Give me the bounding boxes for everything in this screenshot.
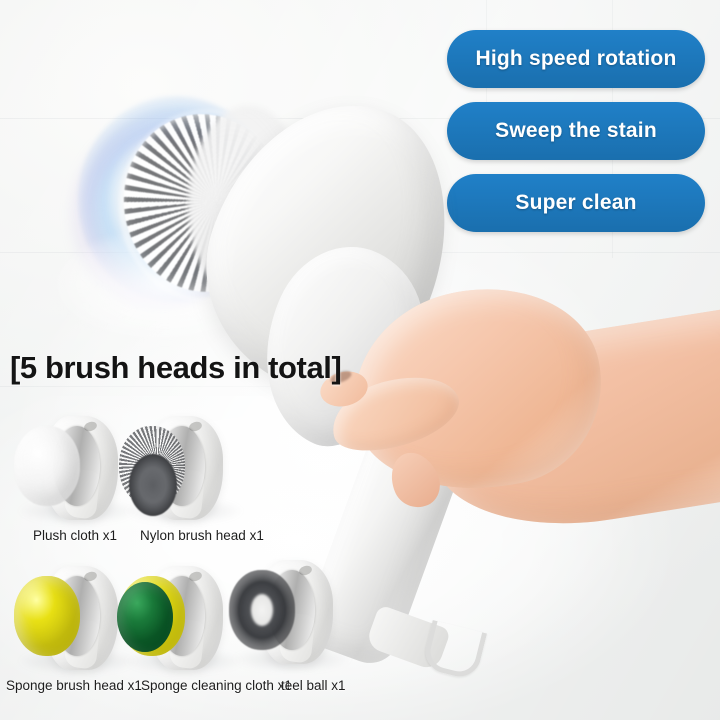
brush-head-plush-cloth[interactable] [10,408,122,526]
product-marketing-image: High speed rotation Sweep the stain Supe… [0,0,720,720]
plush-cloth-pad [14,426,80,506]
steel-wool-hole [251,594,273,626]
page-title: [5 brush heads in total] [10,350,341,386]
brush-head-sponge[interactable] [10,558,122,676]
caption-plush-cloth: Plush cloth x1 [33,528,117,543]
yellow-sponge-pad [14,576,80,656]
nylon-bristle-pad [119,426,185,506]
steel-wool-pad [229,570,295,650]
sponge-backing-pad [119,576,185,656]
green-scour-disc [117,582,173,652]
brush-head-sponge-cloth[interactable] [115,558,227,676]
caption-sponge-cleaning-cloth: Sponge cleaning cloth x1 [141,678,292,693]
badge-high-speed-rotation[interactable]: High speed rotation [447,30,705,88]
badge-label: High speed rotation [476,47,677,71]
brush-head-steel-ball[interactable] [225,552,337,670]
brush-head-nylon[interactable] [115,408,227,526]
caption-nylon-brush-head: Nylon brush head x1 [140,528,264,543]
caption-sponge-brush-head: Sponge brush head x1 [6,678,142,693]
nylon-bristle-core [129,454,177,516]
caption-steel-ball: teel ball x1 [281,678,346,693]
brush-head-gallery [0,400,370,720]
